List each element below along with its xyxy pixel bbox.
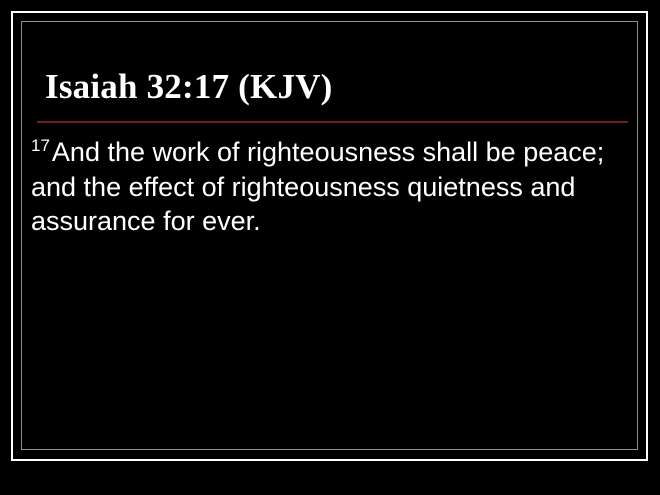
slide-canvas: Isaiah 32:17 (KJV) 17And the work of rig… (0, 0, 660, 495)
verse-number: 17 (31, 136, 52, 155)
verse-text: And the work of righteousness shall be p… (31, 137, 604, 236)
slide-title: Isaiah 32:17 (KJV) (45, 66, 625, 108)
title-divider-rule (37, 121, 628, 123)
bottom-letterbox (0, 462, 660, 495)
empty-content-area (31, 250, 629, 442)
scripture-body: 17And the work of righteousness shall be… (31, 135, 621, 239)
